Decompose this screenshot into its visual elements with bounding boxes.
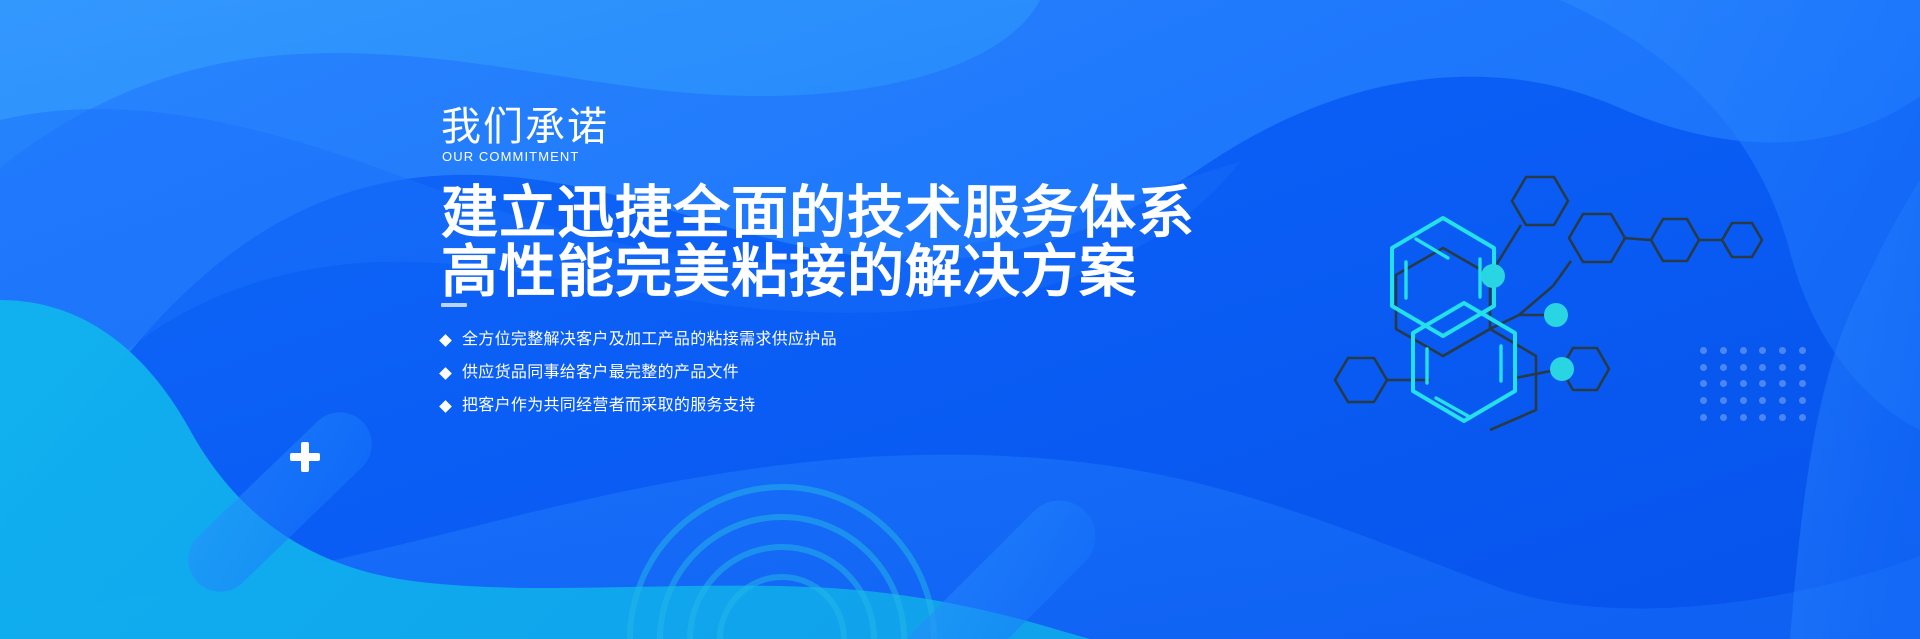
grid-dot [1799, 364, 1806, 371]
grid-dot [1799, 397, 1806, 404]
grid-dot [1759, 364, 1766, 371]
grid-dot [1779, 380, 1786, 387]
commitment-list: 全方位完整解决客户及加工产品的粘接需求供应护品 供应货品同事给客户最完整的产品文… [441, 326, 837, 425]
list-item: 把客户作为共同经营者而采取的服务支持 [441, 392, 837, 420]
banner-content: 我们承诺 OUR COMMITMENT 建立迅捷全面的技术服务体系 高性能完美粘… [441, 0, 1141, 639]
eyebrow-title-zh: 我们承诺 [441, 104, 609, 150]
grid-dot [1759, 414, 1766, 421]
grid-dot [1720, 414, 1727, 421]
grid-dot [1720, 397, 1727, 404]
headline-line-1: 建立迅捷全面的技术服务体系 [441, 184, 1121, 243]
grid-dot [1799, 347, 1806, 354]
grid-dot [1740, 397, 1747, 404]
dot-grid-decoration [1694, 342, 1812, 426]
list-item-label: 供应货品同事给客户最完整的产品文件 [462, 362, 739, 384]
grid-dot [1700, 347, 1707, 354]
grid-dot [1759, 380, 1766, 387]
headline: 建立迅捷全面的技术服务体系 高性能完美粘接的解决方案 [441, 184, 1121, 302]
grid-dot [1799, 414, 1806, 421]
grid-dot [1759, 397, 1766, 404]
grid-dot [1740, 380, 1747, 387]
plus-icon [290, 442, 320, 472]
grid-dot [1799, 380, 1806, 387]
eyebrow-title-en: OUR COMMITMENT [442, 149, 579, 165]
grid-dot [1740, 414, 1747, 421]
grid-dot [1779, 347, 1786, 354]
grid-dot [1740, 364, 1747, 371]
grid-dot [1720, 347, 1727, 354]
grid-dot [1779, 364, 1786, 371]
headline-line-2: 高性能完美粘接的解决方案 [441, 243, 1121, 302]
grid-dot [1700, 397, 1707, 404]
list-item-label: 把客户作为共同经营者而采取的服务支持 [462, 395, 755, 417]
grid-dot [1779, 397, 1786, 404]
grid-dot [1720, 364, 1727, 371]
diamond-icon [439, 400, 452, 413]
grid-dot [1700, 380, 1707, 387]
grid-dot [1720, 380, 1727, 387]
list-item-label: 全方位完整解决客户及加工产品的粘接需求供应护品 [462, 329, 837, 351]
grid-dot [1700, 364, 1707, 371]
diamond-icon [439, 367, 452, 380]
grid-dot [1759, 347, 1766, 354]
promo-banner: 我们承诺 OUR COMMITMENT 建立迅捷全面的技术服务体系 高性能完美粘… [0, 0, 1920, 639]
grid-dot [1740, 347, 1747, 354]
list-item: 全方位完整解决客户及加工产品的粘接需求供应护品 [441, 326, 837, 354]
grid-dot [1700, 414, 1707, 421]
grid-dot [1779, 414, 1786, 421]
molecule-hexagon-icon [1300, 130, 1920, 430]
diamond-icon [439, 334, 452, 347]
list-item: 供应货品同事给客户最完整的产品文件 [441, 359, 837, 387]
